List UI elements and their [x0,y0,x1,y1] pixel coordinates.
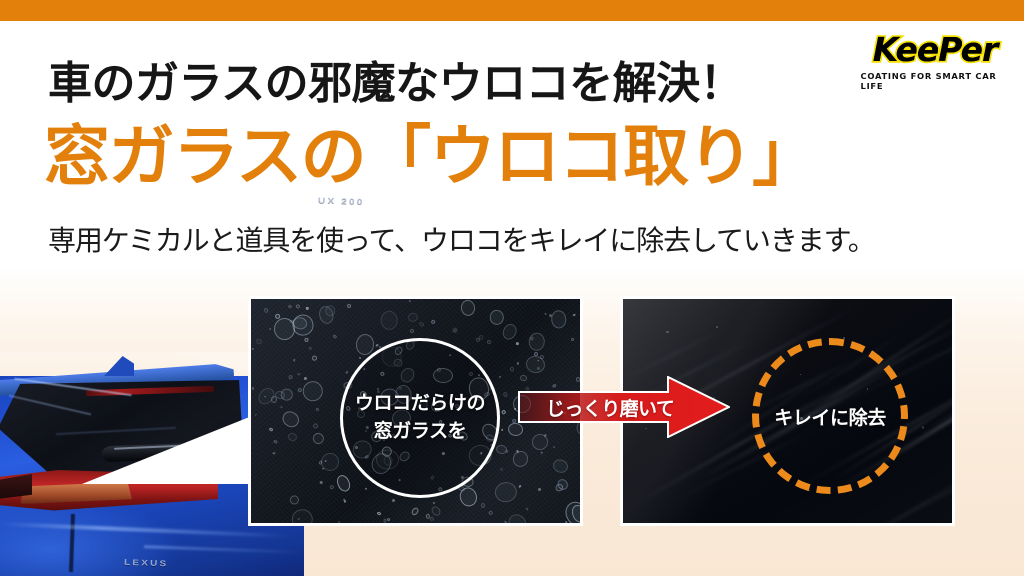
eyebrow-heading: 車のガラスの邪魔なウロコを解決！ [48,62,743,106]
car-model-badge: UX 200 [318,196,365,207]
keeper-logo-wordmark: KeePer [873,33,998,66]
polish-streak [624,329,723,380]
residual-speck [666,331,669,334]
before-callout-circle: ウロコだらけの 窓ガラスを [340,338,500,498]
after-callout-label: キレイに除去 [752,338,908,494]
keeper-logo: KeePer COATING FOR SMART CAR LIFE [862,33,1008,89]
keeper-logo-tagline: COATING FOR SMART CAR LIFE [861,71,1010,91]
before-callout-line-2: 窓ガラスを [374,418,467,446]
top-accent-bar [0,0,1024,21]
residual-speck [716,326,718,328]
process-arrow-label: じっくり磨いて [518,376,730,438]
residual-speck [922,426,924,429]
slide-root: KeePer COATING FOR SMART CAR LIFE 車のガラスの… [0,0,1024,576]
car-brand-badge: LEXUS [124,558,169,569]
before-callout-line-1: ウロコだらけの [355,390,485,418]
page-title: 窓ガラスの「ウロコ取り」 [44,123,817,189]
page-subtitle: 専用ケミカルと道具を使って、ウロコをキレイに除去していきます。 [48,227,875,255]
